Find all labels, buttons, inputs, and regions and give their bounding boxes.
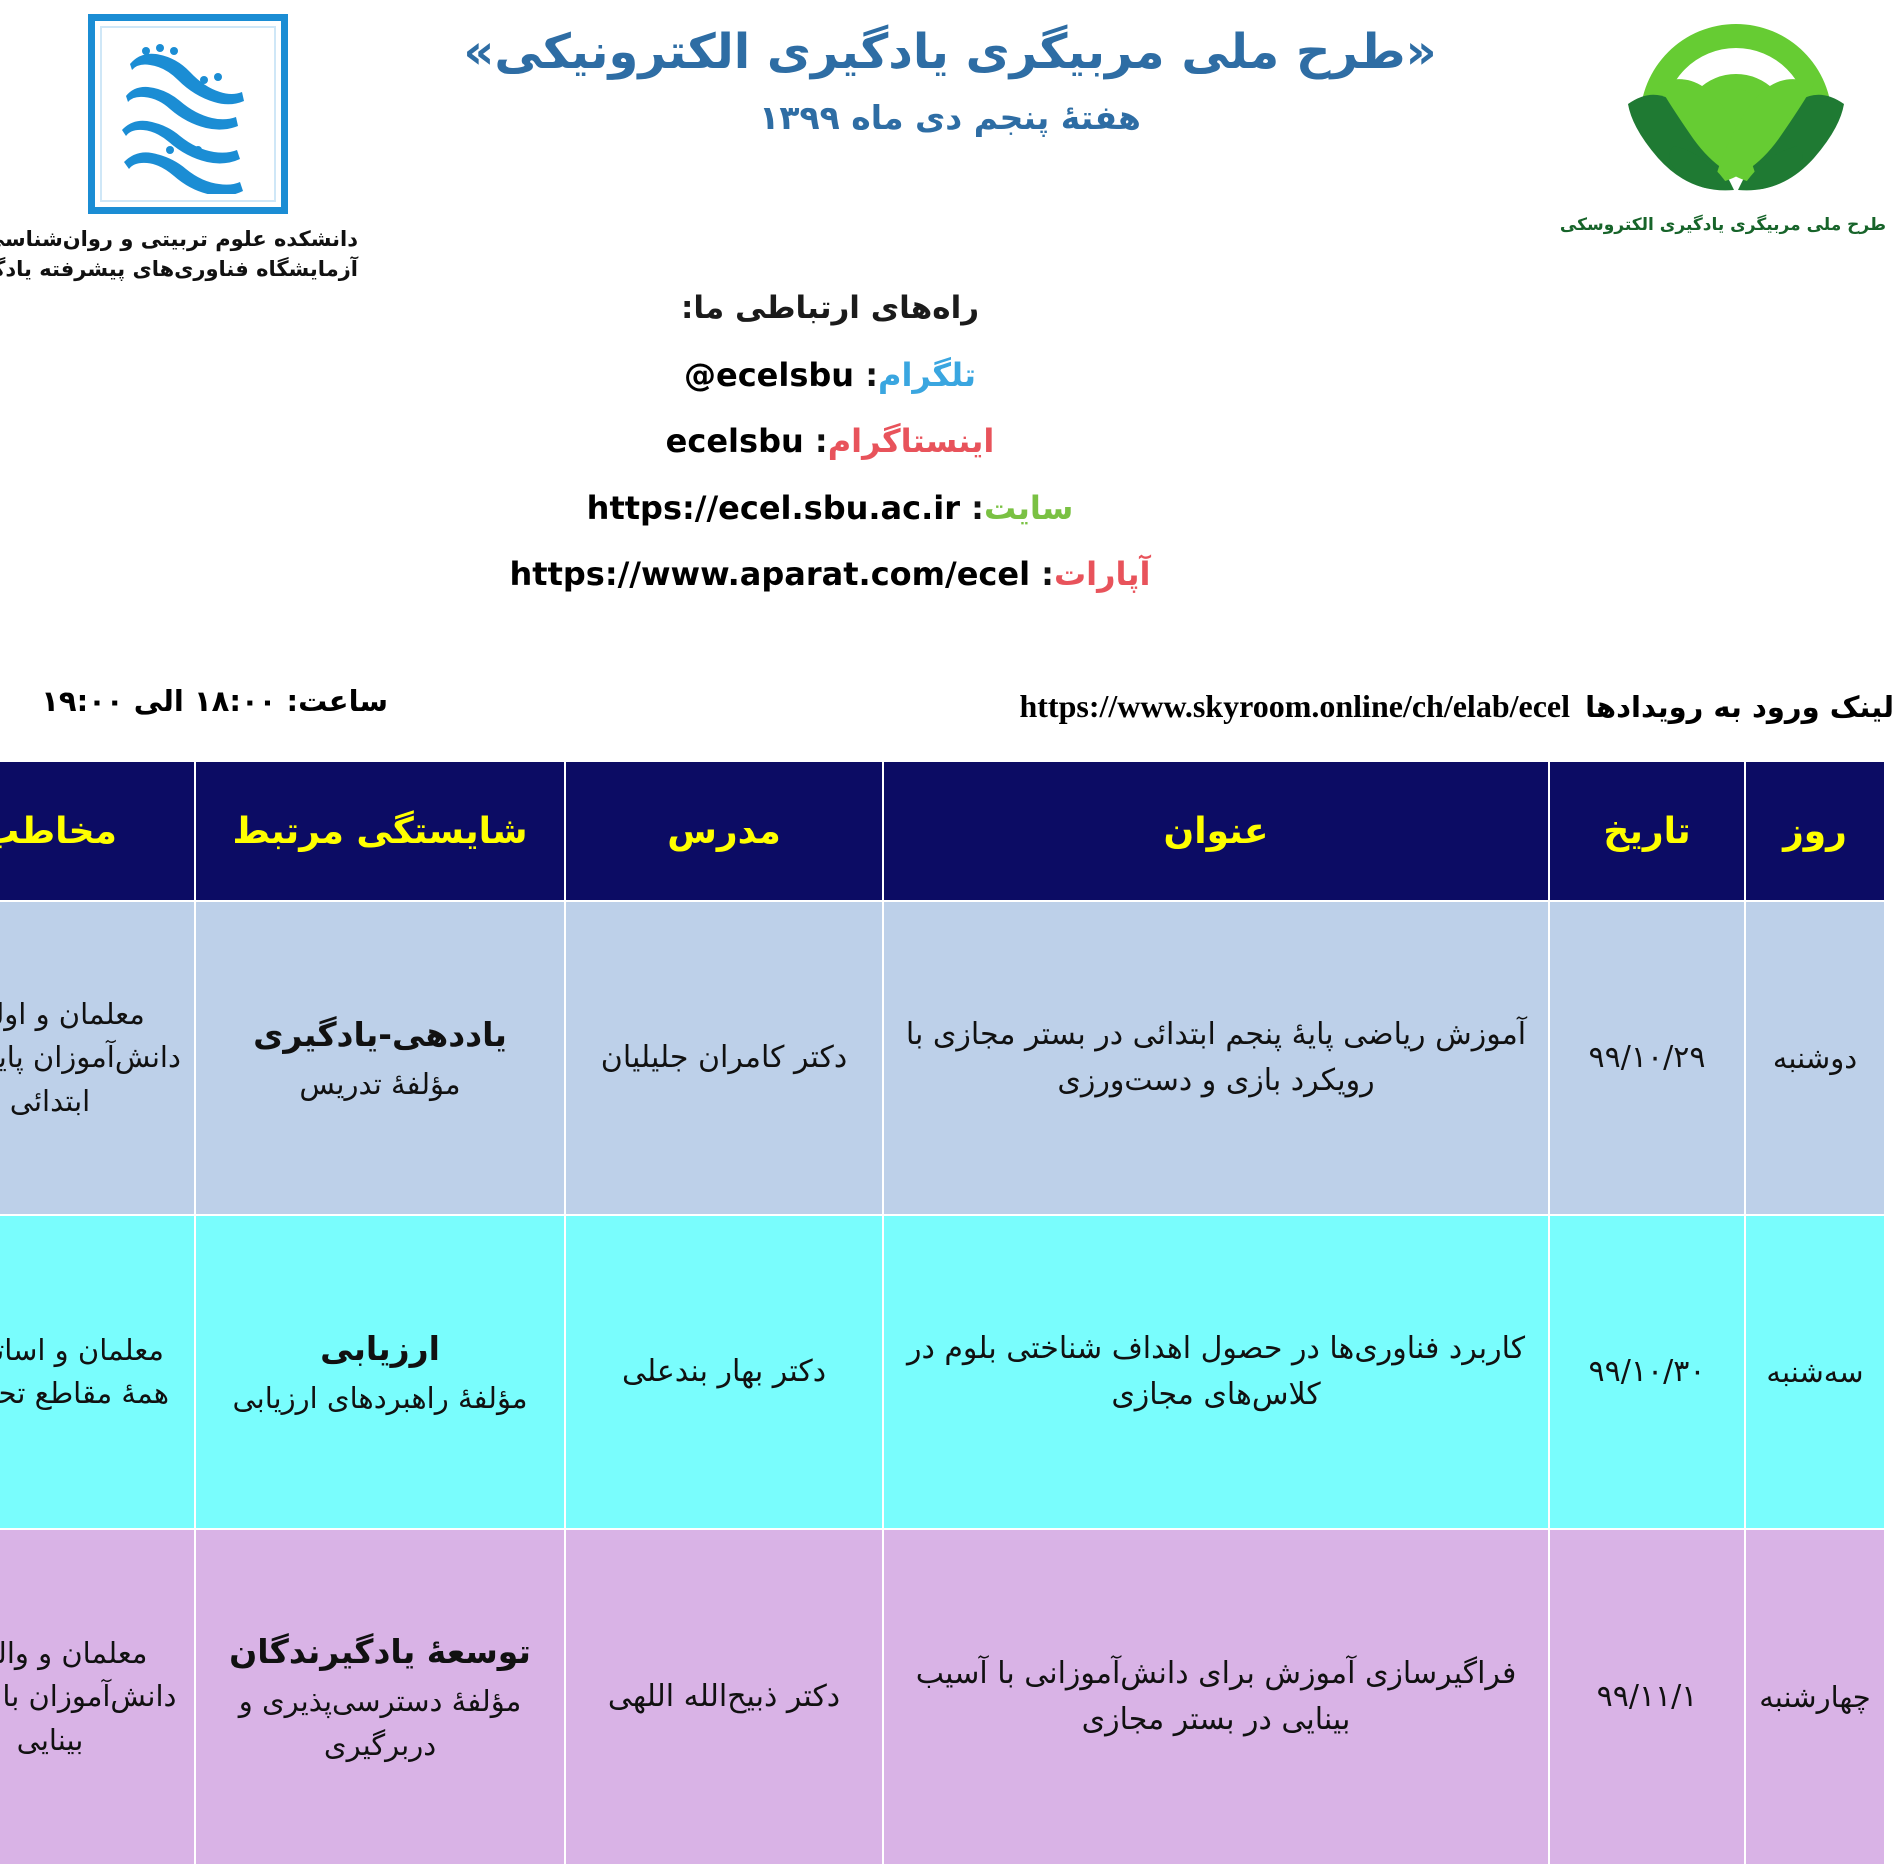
cell-teacher: دکتر بهار بندعلی bbox=[565, 1215, 883, 1529]
ecel-logo-icon bbox=[1618, 8, 1854, 208]
cell-competency: یاددهی-یادگیری مؤلفهٔ تدریس bbox=[195, 901, 565, 1215]
col-header-competency: شایستگی مرتبط bbox=[195, 761, 565, 901]
col-header-date: تاریخ bbox=[1549, 761, 1745, 901]
contact-item-telegram: تلگرام: @ecelsbu bbox=[0, 356, 1900, 394]
col-header-audience: مخاطب bbox=[0, 761, 195, 901]
cell-teacher: دکتر ذبیح‌الله اللهی bbox=[565, 1529, 883, 1865]
contact-item-site: سایت: https://ecel.sbu.ac.ir bbox=[0, 489, 1900, 527]
university-branding: دانشکده علوم تربیتی و روان‌شناسی آزمایشگ… bbox=[18, 14, 358, 285]
contact-sep-aparat: : bbox=[1041, 555, 1054, 593]
contact-sep-instagram: : bbox=[815, 422, 828, 460]
cell-teacher: دکتر کامران جلیلیان bbox=[565, 901, 883, 1215]
contact-label-telegram: تلگرام bbox=[878, 356, 976, 394]
event-link-row: لینک ورود به رویدادها https://www.skyroo… bbox=[0, 690, 1900, 750]
contact-label-instagram: اینستاگرام bbox=[828, 422, 995, 460]
competency-sub: مؤلفهٔ تدریس bbox=[204, 1063, 556, 1107]
competency-sub: مؤلفهٔ دسترسی‌پذیری و دربرگیری bbox=[204, 1680, 556, 1767]
cell-competency: توسعهٔ یادگیرندگان مؤلفهٔ دسترسی‌پذیری و… bbox=[195, 1529, 565, 1865]
schedule-table-body: دوشنبه ۹۹/۱۰/۲۹ آموزش ریاضی پایهٔ پنجم ا… bbox=[0, 901, 1885, 1865]
event-link-label: لینک ورود به رویدادها bbox=[1585, 690, 1894, 724]
event-link-url[interactable]: https://www.skyroom.online/ch/elab/ecel bbox=[1019, 688, 1570, 725]
cell-day: دوشنبه bbox=[1745, 901, 1885, 1215]
poster-subtitle: هفتهٔ پنجم دی ماه ۱۳۹۹ bbox=[380, 98, 1520, 137]
table-header-row: روز تاریخ عنوان مدرس شایستگی مرتبط مخاطب bbox=[0, 761, 1885, 901]
cell-audience: معلمان و اولیای دانش‌آموزان پایهٔ پنجم ا… bbox=[0, 901, 195, 1215]
ecel-branding: طرح ملی مربیگری یادگیری الکتروسکی bbox=[1586, 8, 1886, 235]
event-time-label: ساعت: ۱۸:۰۰ الی ۱۹:۰۰ bbox=[8, 684, 388, 719]
contact-heading: راه‌های ارتباطی ما: bbox=[0, 290, 1900, 326]
competency-sub: مؤلفهٔ راهبردهای ارزیابی bbox=[204, 1377, 556, 1421]
col-header-teacher: مدرس bbox=[565, 761, 883, 901]
contact-label-site: سایت bbox=[984, 489, 1073, 527]
contact-value-instagram[interactable]: ecelsbu bbox=[666, 422, 804, 460]
cell-date: ۹۹/۱۱/۱ bbox=[1549, 1529, 1745, 1865]
contact-sep-site: : bbox=[971, 489, 984, 527]
contact-section: راه‌های ارتباطی ما: تلگرام: @ecelsbu این… bbox=[0, 290, 1900, 622]
cell-date: ۹۹/۱۰/۳۰ bbox=[1549, 1215, 1745, 1529]
table-row: دوشنبه ۹۹/۱۰/۲۹ آموزش ریاضی پایهٔ پنجم ا… bbox=[0, 901, 1885, 1215]
schedule-table: روز تاریخ عنوان مدرس شایستگی مرتبط مخاطب… bbox=[0, 760, 1886, 1866]
cell-date: ۹۹/۱۰/۲۹ bbox=[1549, 901, 1745, 1215]
contact-item-instagram: اینستاگرام: ecelsbu bbox=[0, 422, 1900, 460]
contact-label-aparat: آپارات bbox=[1054, 555, 1151, 593]
cell-audience: معلمان و والدین دانش‌آموزان با آسیب بینا… bbox=[0, 1529, 195, 1865]
faculty-name-line2: آزمایشگاه فناوری‌های پیشرفته یادگیری bbox=[18, 254, 358, 284]
cell-audience: معلمان و اساتید در همهٔ مقاطع تحصیلی bbox=[0, 1215, 195, 1529]
col-header-title: عنوان bbox=[883, 761, 1549, 901]
poster-root: دانشکده علوم تربیتی و روان‌شناسی آزمایشگ… bbox=[0, 0, 1900, 1620]
cell-day: سه‌شنبه bbox=[1745, 1215, 1885, 1529]
contact-value-aparat[interactable]: https://www.aparat.com/ecel bbox=[509, 555, 1030, 593]
competency-main: یاددهی-یادگیری bbox=[204, 1010, 556, 1060]
table-row: چهارشنبه ۹۹/۱۱/۱ فراگیرسازی آموزش برای د… bbox=[0, 1529, 1885, 1865]
cell-day: چهارشنبه bbox=[1745, 1529, 1885, 1865]
cell-title: کاربرد فناوری‌ها در حصول اهداف شناختی بل… bbox=[883, 1215, 1549, 1529]
cell-competency: ارزیابی مؤلفهٔ راهبردهای ارزیابی bbox=[195, 1215, 565, 1529]
table-row: سه‌شنبه ۹۹/۱۰/۳۰ کاربرد فناوری‌ها در حصو… bbox=[0, 1215, 1885, 1529]
cell-title: فراگیرسازی آموزش برای دانش‌آموزانی با آس… bbox=[883, 1529, 1549, 1865]
schedule-table-head: روز تاریخ عنوان مدرس شایستگی مرتبط مخاطب bbox=[0, 761, 1885, 901]
contact-item-aparat: آپارات: https://www.aparat.com/ecel bbox=[0, 555, 1900, 593]
shahid-beheshti-university-logo-icon bbox=[88, 14, 288, 214]
contact-sep-telegram: : bbox=[865, 356, 878, 394]
cell-title: آموزش ریاضی پایهٔ پنجم ابتدائی در بستر م… bbox=[883, 901, 1549, 1215]
competency-main: ارزیابی bbox=[204, 1324, 556, 1374]
poster-title: «طرح ملی مربیگری یادگیری الکترونیکی» bbox=[380, 22, 1520, 82]
ecel-logo-caption: طرح ملی مربیگری یادگیری الکتروسکی bbox=[1586, 215, 1886, 235]
competency-main: توسعهٔ یادگیرندگان bbox=[204, 1627, 556, 1677]
col-header-day: روز bbox=[1745, 761, 1885, 901]
contact-value-telegram[interactable]: @ecelsbu bbox=[684, 356, 854, 394]
contact-value-site[interactable]: https://ecel.sbu.ac.ir bbox=[587, 489, 960, 527]
title-block: «طرح ملی مربیگری یادگیری الکترونیکی» هفت… bbox=[380, 22, 1520, 137]
faculty-name-line1: دانشکده علوم تربیتی و روان‌شناسی bbox=[18, 224, 358, 254]
